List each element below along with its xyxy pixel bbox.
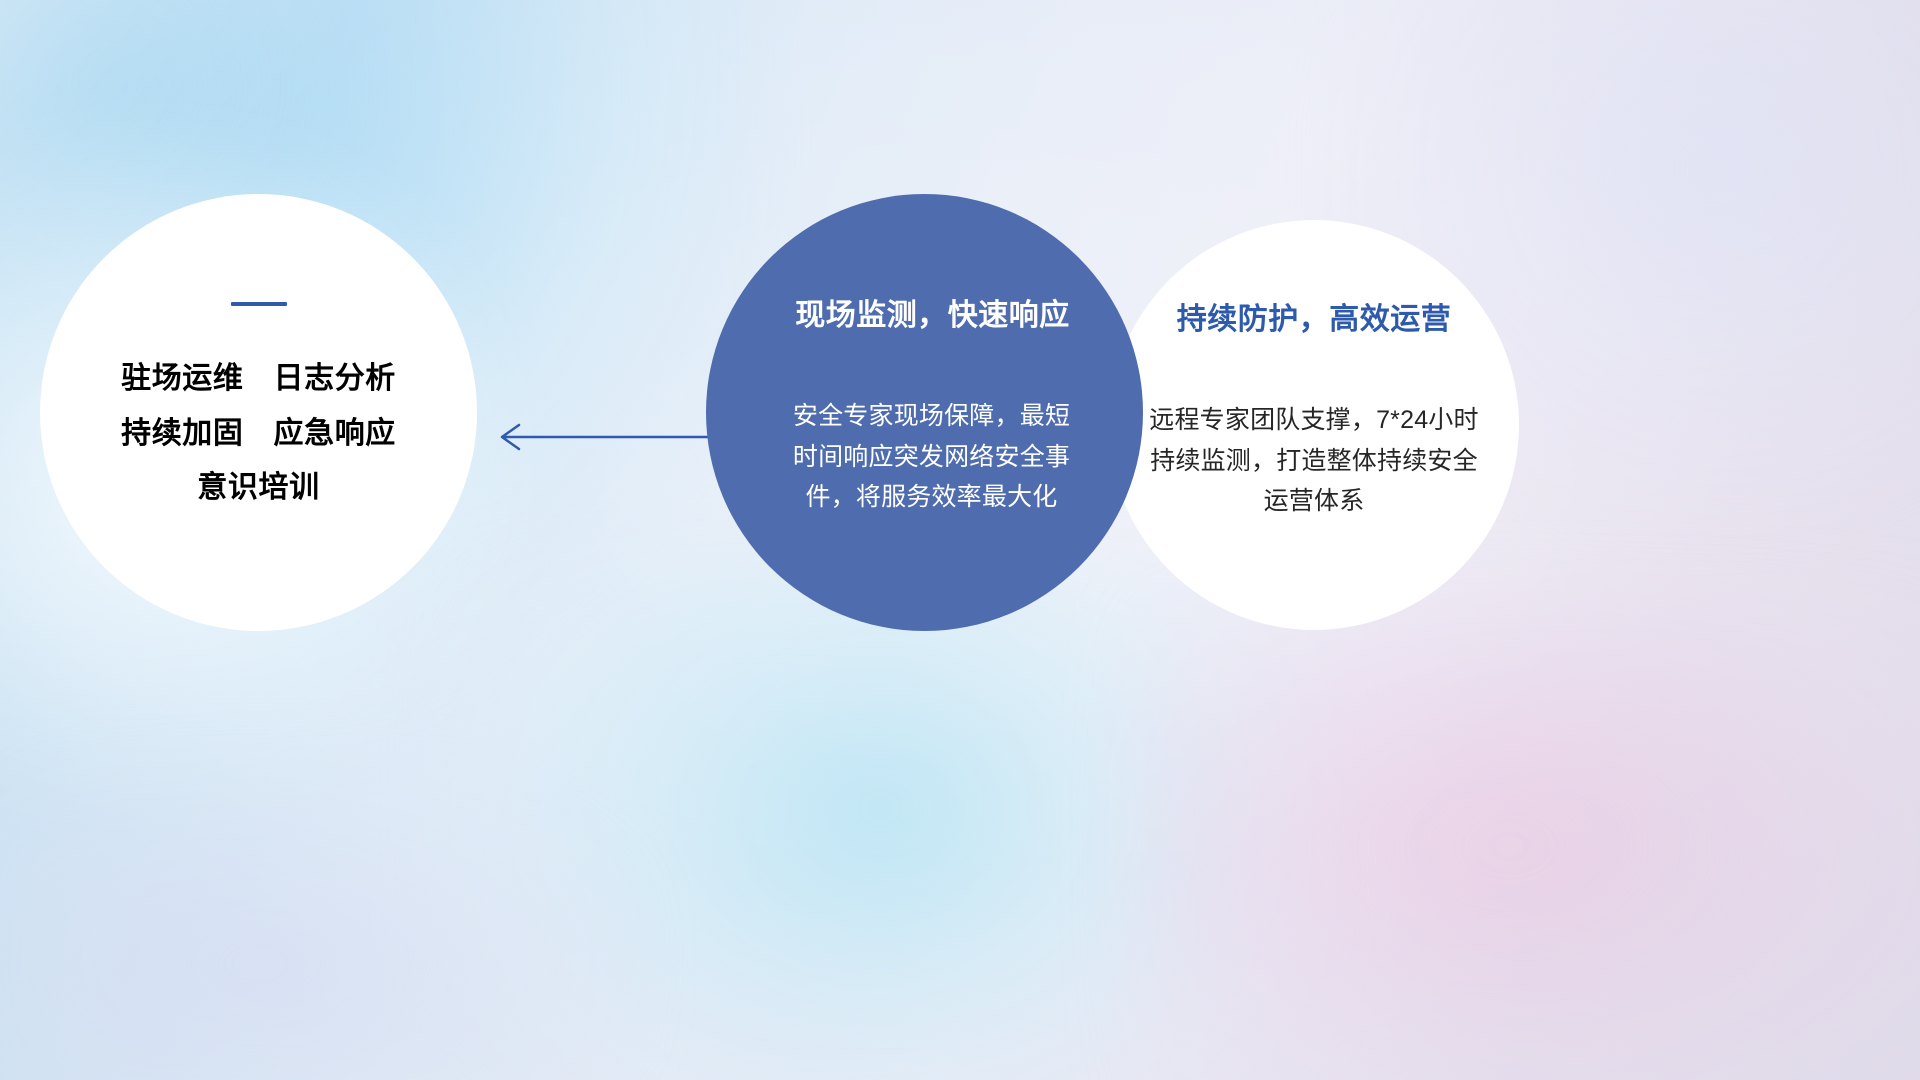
middle-circle[interactable]: 现场监测，快速响应 安全专家现场保障，最短时间响应突发网络安全事件，将服务效率最…	[706, 194, 1143, 631]
keyword-item: 意识培训	[197, 461, 319, 516]
right-circle-body: 远程专家团队支撑，7*24小时持续监测，打造整体持续安全运营体系	[1144, 400, 1484, 522]
middle-circle-title: 现场监测，快速响应	[795, 290, 1070, 334]
divider-dash-icon	[231, 302, 287, 306]
keyword-item: 应急响应	[274, 407, 396, 462]
right-circle[interactable]: 持续防护，高效运营 远程专家团队支撑，7*24小时持续监测，打造整体持续安全运营…	[1109, 220, 1519, 630]
middle-circle-content: 现场监测，快速响应 安全专家现场保障，最短时间响应突发网络安全事件，将服务效率最…	[706, 194, 1143, 631]
keyword-row: 意识培训	[197, 461, 319, 516]
right-circle-content: 持续防护，高效运营 远程专家团队支撑，7*24小时持续监测，打造整体持续安全运营…	[1109, 220, 1519, 630]
right-circle-title: 持续防护，高效运营	[1177, 294, 1452, 338]
slide-canvas: 驻场运维 日志分析 持续加固 应急响应 意识培训 持续防护，高效运营 远程专家团…	[0, 0, 1920, 1080]
keyword-row: 持续加固 应急响应	[121, 407, 396, 462]
keyword-row: 驻场运维 日志分析	[121, 352, 396, 407]
keyword-item: 驻场运维	[121, 352, 243, 407]
left-circle[interactable]: 驻场运维 日志分析 持续加固 应急响应 意识培训	[40, 194, 477, 631]
middle-circle-body: 安全专家现场保障，最短时间响应突发网络安全事件，将服务效率最大化	[782, 396, 1082, 518]
left-circle-content: 驻场运维 日志分析 持续加固 应急响应 意识培训	[40, 194, 477, 631]
keyword-list: 驻场运维 日志分析 持续加固 应急响应 意识培训	[121, 352, 396, 516]
keyword-item: 日志分析	[274, 352, 396, 407]
keyword-item: 持续加固	[121, 407, 243, 462]
